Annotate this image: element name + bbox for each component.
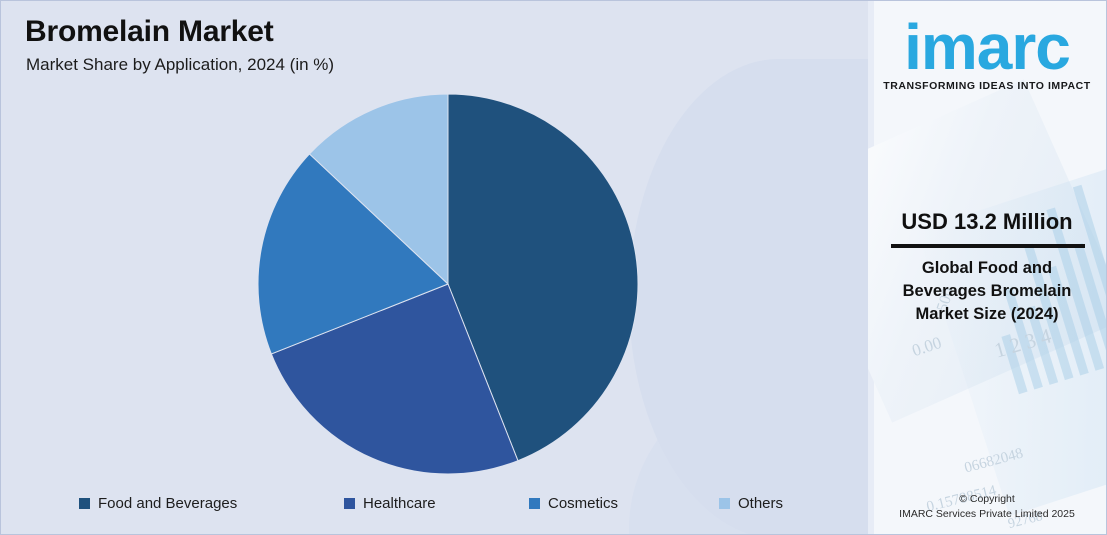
sidebar-divider — [891, 244, 1085, 248]
page-title: Bromelain Market — [25, 15, 274, 49]
pie-slice-group — [258, 94, 638, 474]
legend-label-food-and-beverages: Food and Beverages — [98, 495, 237, 512]
sidebar-digits-texture-4: 06682048 — [963, 446, 1025, 478]
legend-item-food-and-beverages[interactable]: Food and Beverages — [79, 495, 237, 512]
sidebar-digits-texture-1: 1 2 3 4 — [992, 324, 1054, 364]
legend-swatch-healthcare — [344, 498, 355, 509]
copyright-line-2: IMARC Services Private Limited 2025 — [868, 507, 1106, 522]
sidebar-digits-texture-2: 0.00 — [910, 333, 944, 361]
sidebar-panel: 1 2 3 4 0.00 500 06682048 0.15788514 927… — [868, 1, 1106, 534]
imarc-logo-wordmark: imarc — [904, 17, 1070, 78]
legend-swatch-cosmetics — [529, 498, 540, 509]
copyright-line-1: © Copyright — [868, 492, 1106, 507]
legend-swatch-others — [719, 498, 730, 509]
pie-chart-svg — [257, 93, 639, 475]
infographic-root: Bromelain Market Market Share by Applica… — [0, 0, 1107, 535]
sidebar-texture-paper — [868, 79, 1106, 422]
pie-chart — [257, 93, 639, 475]
page-subtitle: Market Share by Application, 2024 (in %) — [26, 55, 334, 75]
legend-label-cosmetics: Cosmetics — [548, 495, 618, 512]
chart-legend: Food and Beverages Healthcare Cosmetics … — [79, 495, 839, 519]
market-size-value: USD 13.2 Million — [868, 209, 1106, 235]
chart-panel: Bromelain Market Market Share by Applica… — [1, 1, 869, 534]
legend-label-others: Others — [738, 495, 783, 512]
legend-swatch-food-and-beverages — [79, 498, 90, 509]
legend-label-healthcare: Healthcare — [363, 495, 436, 512]
copyright-block: © Copyright IMARC Services Private Limit… — [868, 492, 1106, 522]
legend-item-healthcare[interactable]: Healthcare — [344, 495, 436, 512]
legend-item-others[interactable]: Others — [719, 495, 783, 512]
imarc-logo: imarc TRANSFORMING IDEAS INTO IMPACT — [868, 17, 1106, 92]
legend-item-cosmetics[interactable]: Cosmetics — [529, 495, 618, 512]
market-size-description: Global Food and Beverages Bromelain Mark… — [880, 257, 1094, 325]
background-swoosh-decoration — [629, 59, 869, 534]
